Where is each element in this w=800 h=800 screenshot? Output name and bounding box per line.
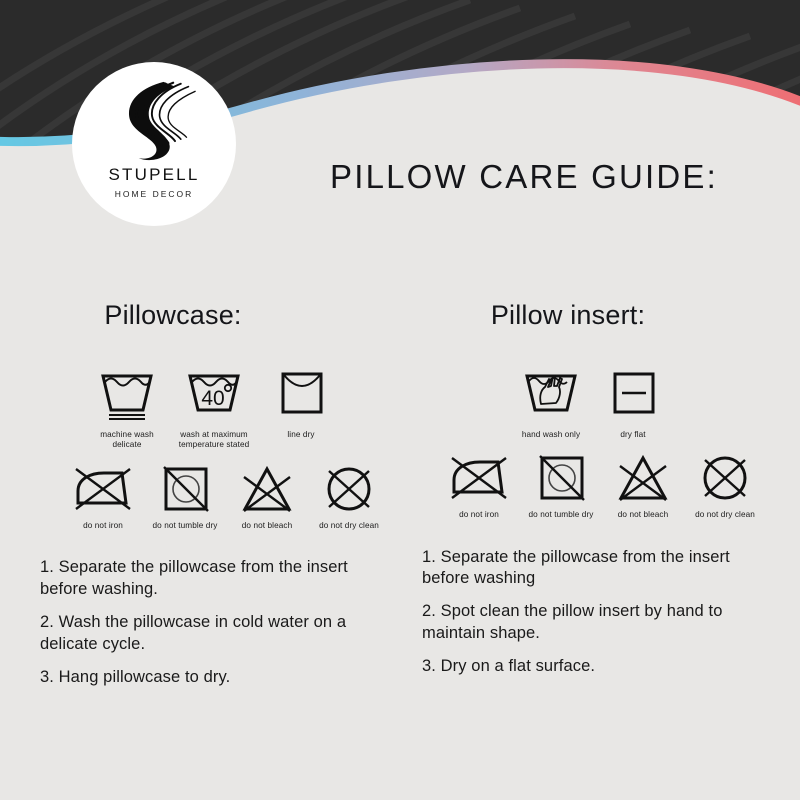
brand-logo-badge: STUPELL HOME DECOR <box>72 62 236 226</box>
step-item: 1. Separate the pillowcase from the inse… <box>40 557 388 601</box>
pillow-insert-icon-row-2: do not iron do not tumble dry do not ble… <box>400 452 780 520</box>
brand-name: STUPELL <box>109 165 200 185</box>
hand-wash-only-icon: hand wash only <box>510 366 592 440</box>
pillowcase-steps: 1. Separate the pillowcase from the inse… <box>20 557 400 689</box>
line-dry-icon: line dry <box>260 366 342 440</box>
icon-caption: do not iron <box>83 521 123 531</box>
svg-text:40: 40 <box>201 387 224 410</box>
pillowcase-icon-row-1: machine wash delicate 40 wash at maximum… <box>20 366 400 451</box>
do-not-dry-clean-icon: do not dry clean <box>308 463 390 531</box>
do-not-bleach-icon: do not bleach <box>602 452 684 520</box>
icon-caption: do not tumble dry <box>153 521 218 531</box>
step-item: 1. Separate the pillowcase from the inse… <box>422 547 770 591</box>
column-heading-pillowcase: Pillowcase: <box>20 300 400 342</box>
pillow-insert-icon-row-1: hand wash only dry flat <box>400 366 780 440</box>
do-not-iron-icon: do not iron <box>62 463 144 531</box>
column-heading-pillow-insert: Pillow insert: <box>400 300 780 342</box>
icon-caption: wash at maximum temperature stated <box>179 430 250 451</box>
wash-max-temperature-40-icon: 40 wash at maximum temperature stated <box>168 366 260 451</box>
step-item: 2. Spot clean the pillow insert by hand … <box>422 601 770 645</box>
do-not-dry-clean-icon: do not dry clean <box>684 452 766 520</box>
icon-caption: hand wash only <box>522 430 580 440</box>
do-not-tumble-dry-icon: do not tumble dry <box>144 463 226 531</box>
do-not-iron-icon: do not iron <box>438 452 520 520</box>
step-item: 2. Wash the pillowcase in cold water on … <box>40 612 388 656</box>
icon-caption: do not iron <box>459 510 499 520</box>
pillowcase-column: Pillowcase: machine wash delicate 40 <box>20 300 400 699</box>
icon-caption: dry flat <box>620 430 645 440</box>
page-title: PILLOW CARE GUIDE: <box>330 158 718 196</box>
do-not-bleach-icon: do not bleach <box>226 463 308 531</box>
icon-caption: do not dry clean <box>319 521 379 531</box>
icon-caption: do not bleach <box>618 510 668 520</box>
do-not-tumble-dry-icon: do not tumble dry <box>520 452 602 520</box>
icon-caption: line dry <box>287 430 314 440</box>
pillow-care-guide-page: STUPELL HOME DECOR PILLOW CARE GUIDE: Pi… <box>0 0 800 800</box>
pillowcase-icon-row-2: do not iron do not tumble dry do not ble… <box>20 463 400 531</box>
stupell-swoosh-logo-icon <box>106 78 202 164</box>
icon-caption: do not bleach <box>242 521 292 531</box>
step-item: 3. Dry on a flat surface. <box>422 656 770 678</box>
dry-flat-icon: dry flat <box>592 366 674 440</box>
pillow-insert-column: Pillow insert: hand wash only dry flat <box>400 300 780 689</box>
icon-caption: machine wash delicate <box>100 430 154 451</box>
brand-tagline: HOME DECOR <box>115 189 194 199</box>
icon-caption: do not dry clean <box>695 510 755 520</box>
pillow-insert-steps: 1. Separate the pillowcase from the inse… <box>400 547 780 679</box>
machine-wash-delicate-icon: machine wash delicate <box>86 366 168 451</box>
step-item: 3. Hang pillowcase to dry. <box>40 667 388 689</box>
icon-caption: do not tumble dry <box>529 510 594 520</box>
